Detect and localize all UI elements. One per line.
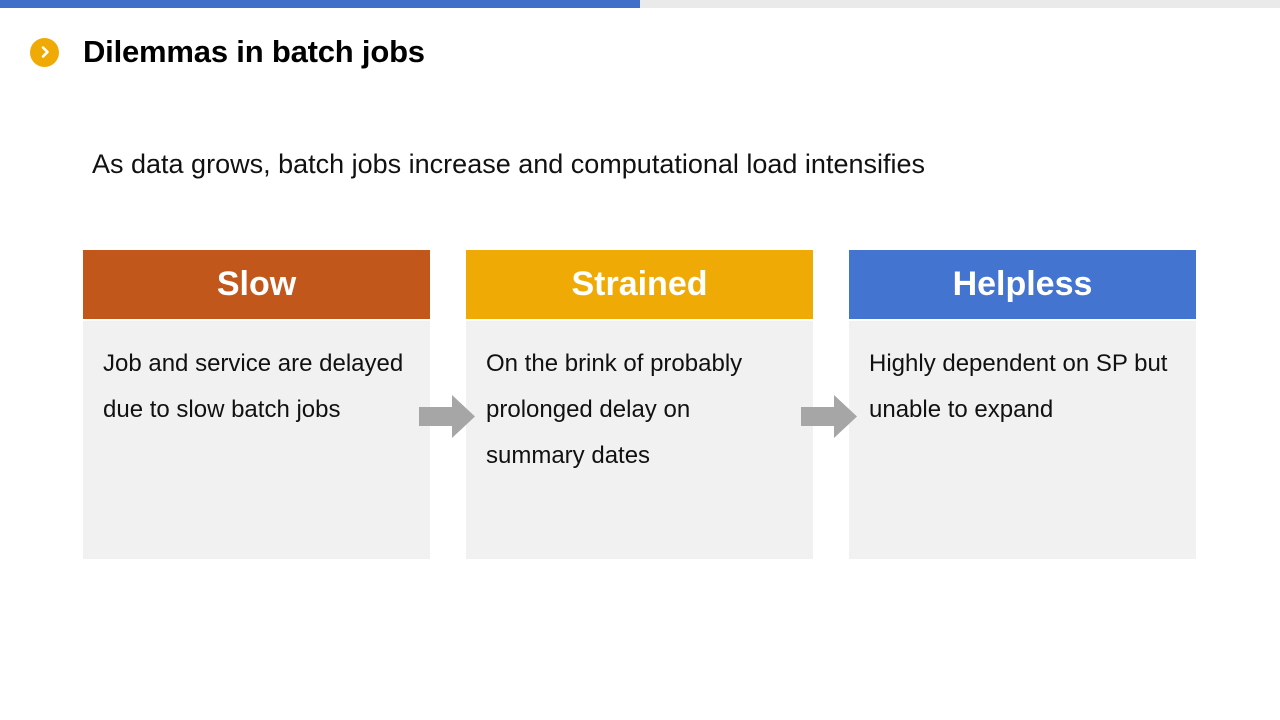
progress-bar-track: [0, 0, 1280, 8]
progress-bar-fill: [0, 0, 640, 8]
card-helpless: Helpless Highly dependent on SP but unab…: [849, 250, 1196, 559]
arrow-right-icon: [419, 395, 475, 438]
chevron-right-circle-icon: [30, 38, 59, 67]
card-body-helpless: Highly dependent on SP but unable to exp…: [849, 321, 1196, 559]
arrow-right-icon: [801, 395, 857, 438]
card-group: Slow Job and service are delayed due to …: [83, 250, 1196, 559]
slide-header: Dilemmas in batch jobs: [30, 34, 425, 70]
card-title-slow: Slow: [83, 250, 430, 319]
card-body-strained: On the brink of probably prolonged delay…: [466, 321, 813, 559]
subtitle-text: As data grows, batch jobs increase and c…: [92, 149, 925, 180]
card-strained: Strained On the brink of probably prolon…: [466, 250, 813, 559]
page-title: Dilemmas in batch jobs: [83, 34, 425, 70]
card-title-helpless: Helpless: [849, 250, 1196, 319]
card-title-strained: Strained: [466, 250, 813, 319]
card-slow: Slow Job and service are delayed due to …: [83, 250, 430, 559]
card-body-slow: Job and service are delayed due to slow …: [83, 321, 430, 559]
